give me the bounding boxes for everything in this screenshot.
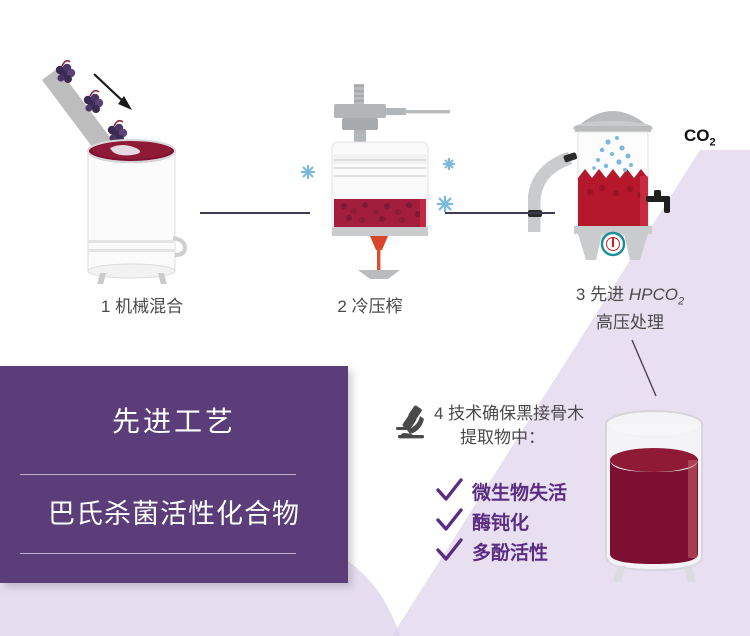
step3-pressure-tank-illustration (528, 92, 718, 272)
bullet-label: 微生物失活 (472, 478, 567, 505)
check-icon (434, 538, 466, 564)
co2-label: CO2 (684, 126, 716, 148)
infographic-canvas: CO2 1 机械混合 2 冷压榨 3 先进 HPCO2 高压处理 先进工艺 巴氏… (0, 0, 750, 636)
step3-caption-line1: 3 先进 HPCO2 (540, 284, 720, 312)
tank-tap-icon (646, 190, 670, 213)
panel-subtitle: 巴氏杀菌活性化合物 (0, 492, 348, 531)
snowflake-icon-left (301, 165, 315, 179)
press-cylinder (332, 142, 428, 236)
step3-caption-line2: 高压处理 (540, 312, 720, 334)
microscope-icon (394, 404, 434, 440)
step3-to-step4-pointer (630, 338, 670, 400)
step1-caption: 1 机械混合 (72, 296, 212, 318)
step4-heading-line2: 提取物中： (460, 426, 584, 450)
list-item: 酶钝化 (434, 506, 567, 536)
final-juice-vessel-illustration (596, 404, 720, 584)
list-item: 多酚活性 (434, 536, 567, 566)
juice-body (610, 460, 698, 564)
panel-divider-bottom (20, 553, 296, 554)
step3-caption: 3 先进 HPCO2 高压处理 (540, 284, 720, 334)
pressure-gauge-icon (602, 233, 624, 255)
snowflake-icon-top-right (443, 158, 455, 170)
press-head (334, 84, 450, 142)
check-icon (434, 508, 466, 534)
step4-heading-line1: 4 技术确保黑接骨木 (434, 404, 584, 423)
grape-cluster-2 (84, 91, 103, 113)
juice-stream (370, 236, 388, 270)
snowflake-icon-bottom-right (437, 196, 453, 212)
connector-step1-step2 (200, 212, 310, 214)
step4-heading: 4 技术确保黑接骨木 提取物中： (434, 402, 584, 450)
panel-divider-top (20, 474, 296, 475)
step4-bullet-list: 微生物失活 酶钝化 多酚活性 (434, 476, 567, 566)
advanced-process-panel: 先进工艺 巴氏杀菌活性化合物 (0, 366, 348, 583)
check-icon (434, 478, 466, 504)
vessel-leg-right (684, 566, 696, 582)
panel-title: 先进工艺 (0, 400, 348, 440)
step2-caption: 2 冷压榨 (300, 296, 440, 318)
juice-surface (610, 448, 698, 472)
collector-funnel-icon (358, 270, 400, 279)
step2-coldpress-illustration (292, 84, 472, 279)
inlet-pipe (528, 152, 578, 232)
mixer-tank-body (88, 140, 185, 284)
list-item: 微生物失活 (434, 476, 567, 506)
step1-mixer-illustration (40, 44, 250, 284)
bullet-label: 酶钝化 (472, 508, 529, 535)
grape-cluster-1 (56, 61, 75, 83)
connector-step2-step3 (445, 212, 555, 214)
vessel-leg-left (613, 566, 626, 582)
bullet-label: 多酚活性 (472, 538, 548, 565)
